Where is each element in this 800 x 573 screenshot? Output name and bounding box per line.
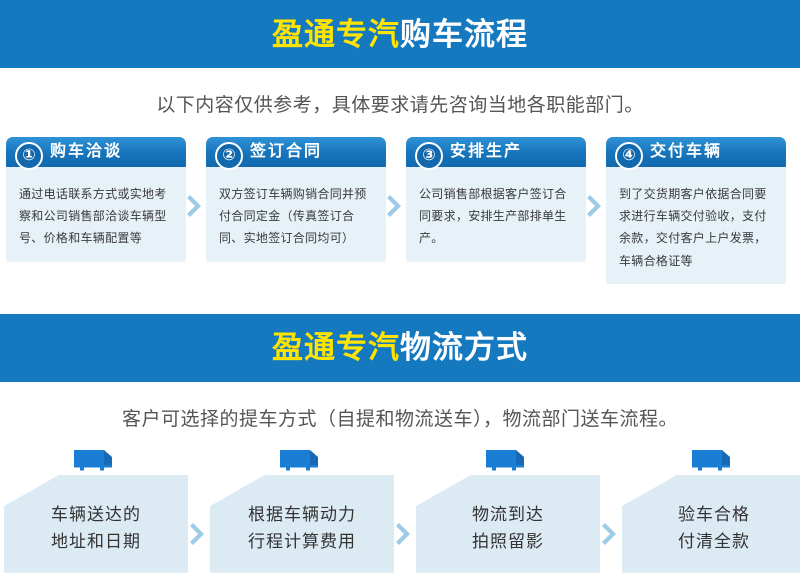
logistics-banner-subject: 物流方式 xyxy=(400,330,528,365)
purchase-banner-title: 盈通专汽购车流程 xyxy=(272,19,528,50)
chevron-right-icon xyxy=(386,193,406,219)
step-card-2: ② 签订合同 双方签订车辆购销合同并预付合同定金（传真签订合同、实地签订合同均可… xyxy=(206,137,386,262)
logistics-banner: 盈通专汽物流方式 xyxy=(0,314,800,382)
logistics-card-3-line1: 物流到达 xyxy=(472,502,544,528)
logistics-banner-title: 盈通专汽物流方式 xyxy=(272,332,528,363)
step-number-1: ① xyxy=(15,142,43,170)
step-card-1: ① 购车洽谈 通过电话联系方式或实地考察和公司销售部洽谈车辆型号、价格和车辆配置… xyxy=(6,137,186,262)
logistics-card-1-line2: 地址和日期 xyxy=(51,529,141,555)
step-card-4: ④ 交付车辆 到了交货期客户依据合同要求进行车辆交付验收，支付余款，交付客户上户… xyxy=(606,137,786,284)
step-title-1: 购车洽谈 xyxy=(50,144,122,160)
logistics-card-4: 验车合格 付清全款 xyxy=(622,447,800,573)
logistics-card-2-line1: 根据车辆动力 xyxy=(248,502,356,528)
chevron-right-icon xyxy=(188,521,210,547)
logistics-card-2-shape: 根据车辆动力 行程计算费用 xyxy=(210,475,394,573)
step-title-4: 交付车辆 xyxy=(650,144,722,160)
purchase-banner-subject: 购车流程 xyxy=(400,17,528,52)
step-card-4-header: ④ 交付车辆 xyxy=(606,137,786,167)
step-body-3: 公司销售部根据客户签订合同要求，安排生产部排单生产。 xyxy=(406,167,586,262)
logistics-subtitle: 客户可选择的提车方式（自提和物流送车），物流部门送车流程。 xyxy=(0,404,800,431)
purchase-subtitle: 以下内容仅供参考，具体要求请先咨询当地各职能部门。 xyxy=(0,90,800,117)
step-body-4: 到了交货期客户依据合同要求进行车辆交付验收，支付余款，交付客户上户发票，车辆合格… xyxy=(606,167,786,284)
step-card-1-header: ① 购车洽谈 xyxy=(6,137,186,167)
logistics-card-3-shape: 物流到达 拍照留影 xyxy=(416,475,600,573)
purchase-steps-row: ① 购车洽谈 通过电话联系方式或实地考察和公司销售部洽谈车辆型号、价格和车辆配置… xyxy=(0,137,800,284)
step-card-2-header: ② 签订合同 xyxy=(206,137,386,167)
truck-icon xyxy=(484,447,532,473)
step-card-3-header: ③ 安排生产 xyxy=(406,137,586,167)
truck-icon xyxy=(72,447,120,473)
brand-name: 盈通专汽 xyxy=(272,330,400,365)
chevron-right-icon xyxy=(186,193,206,219)
chevron-right-icon xyxy=(394,521,416,547)
truck-icon xyxy=(690,447,738,473)
logistics-card-1-shape: 车辆送达的 地址和日期 xyxy=(4,475,188,573)
logistics-card-4-line2: 付清全款 xyxy=(678,529,750,555)
truck-icon xyxy=(278,447,326,473)
step-body-2: 双方签订车辆购销合同并预付合同定金（传真签订合同、实地签订合同均可） xyxy=(206,167,386,262)
logistics-card-3-line2: 拍照留影 xyxy=(472,529,544,555)
step-number-3: ③ xyxy=(415,142,443,170)
logistics-card-4-shape: 验车合格 付清全款 xyxy=(622,475,800,573)
logistics-card-2-line2: 行程计算费用 xyxy=(248,529,356,555)
logistics-cards-row: 车辆送达的 地址和日期 根据车辆动力 行程计算费用 xyxy=(0,447,800,573)
step-number-2: ② xyxy=(215,142,243,170)
step-card-3: ③ 安排生产 公司销售部根据客户签订合同要求，安排生产部排单生产。 xyxy=(406,137,586,262)
brand-name: 盈通专汽 xyxy=(272,17,400,52)
logistics-card-3: 物流到达 拍照留影 xyxy=(416,447,600,573)
chevron-right-icon xyxy=(586,193,606,219)
step-title-2: 签订合同 xyxy=(250,144,322,160)
step-number-4: ④ xyxy=(615,142,643,170)
logistics-card-1: 车辆送达的 地址和日期 xyxy=(4,447,188,573)
step-title-3: 安排生产 xyxy=(450,144,522,160)
step-body-1: 通过电话联系方式或实地考察和公司销售部洽谈车辆型号、价格和车辆配置等 xyxy=(6,167,186,262)
logistics-card-4-line1: 验车合格 xyxy=(678,502,750,528)
purchase-banner: 盈通专汽购车流程 xyxy=(0,0,800,68)
logistics-card-1-line1: 车辆送达的 xyxy=(51,502,141,528)
logistics-card-2: 根据车辆动力 行程计算费用 xyxy=(210,447,394,573)
chevron-right-icon xyxy=(600,521,622,547)
